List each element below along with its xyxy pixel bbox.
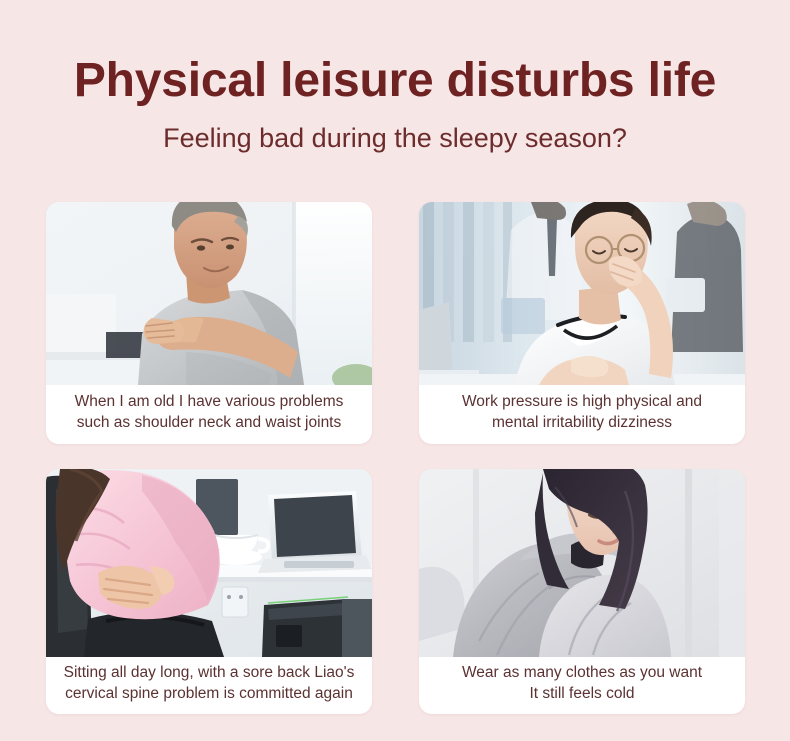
card-caption: Work pressure is high physical and menta… <box>419 385 745 444</box>
page-header: Physical leisure disturbs life Feeling b… <box>0 0 790 154</box>
symptom-card-grid: When I am old I have various problems su… <box>46 202 745 714</box>
card-caption: Wear as many clothes as you want It stil… <box>419 657 745 714</box>
page-title: Physical leisure disturbs life <box>0 56 790 106</box>
page-subtitle: Feeling bad during the sleepy season? <box>0 124 790 154</box>
card-caption: When I am old I have various problems su… <box>46 385 372 444</box>
photo-cold-blanket-illustration <box>419 469 745 657</box>
card-work-pressure[interactable]: Work pressure is high physical and menta… <box>419 202 745 444</box>
card-caption: Sitting all day long, with a sore back L… <box>46 657 372 714</box>
photo-work-stress <box>419 202 745 385</box>
photo-shoulder-pain-illustration <box>46 202 372 385</box>
card-caption-text: When I am old I have various problems su… <box>75 392 344 434</box>
card-cervical-spine[interactable]: Sitting all day long, with a sore back L… <box>46 469 372 714</box>
photo-back-pain-illustration <box>46 469 372 657</box>
card-caption-text: Sitting all day long, with a sore back L… <box>64 663 355 705</box>
photo-back-pain <box>46 469 372 657</box>
photo-shoulder-pain <box>46 202 372 385</box>
photo-cold-blanket <box>419 469 745 657</box>
card-caption-text: Work pressure is high physical and menta… <box>462 392 702 434</box>
photo-work-stress-illustration <box>419 202 745 385</box>
promo-page: Physical leisure disturbs life Feeling b… <box>0 0 790 741</box>
card-caption-text: Wear as many clothes as you want It stil… <box>462 663 702 705</box>
card-feels-cold[interactable]: Wear as many clothes as you want It stil… <box>419 469 745 714</box>
card-shoulder-neck-waist[interactable]: When I am old I have various problems su… <box>46 202 372 444</box>
